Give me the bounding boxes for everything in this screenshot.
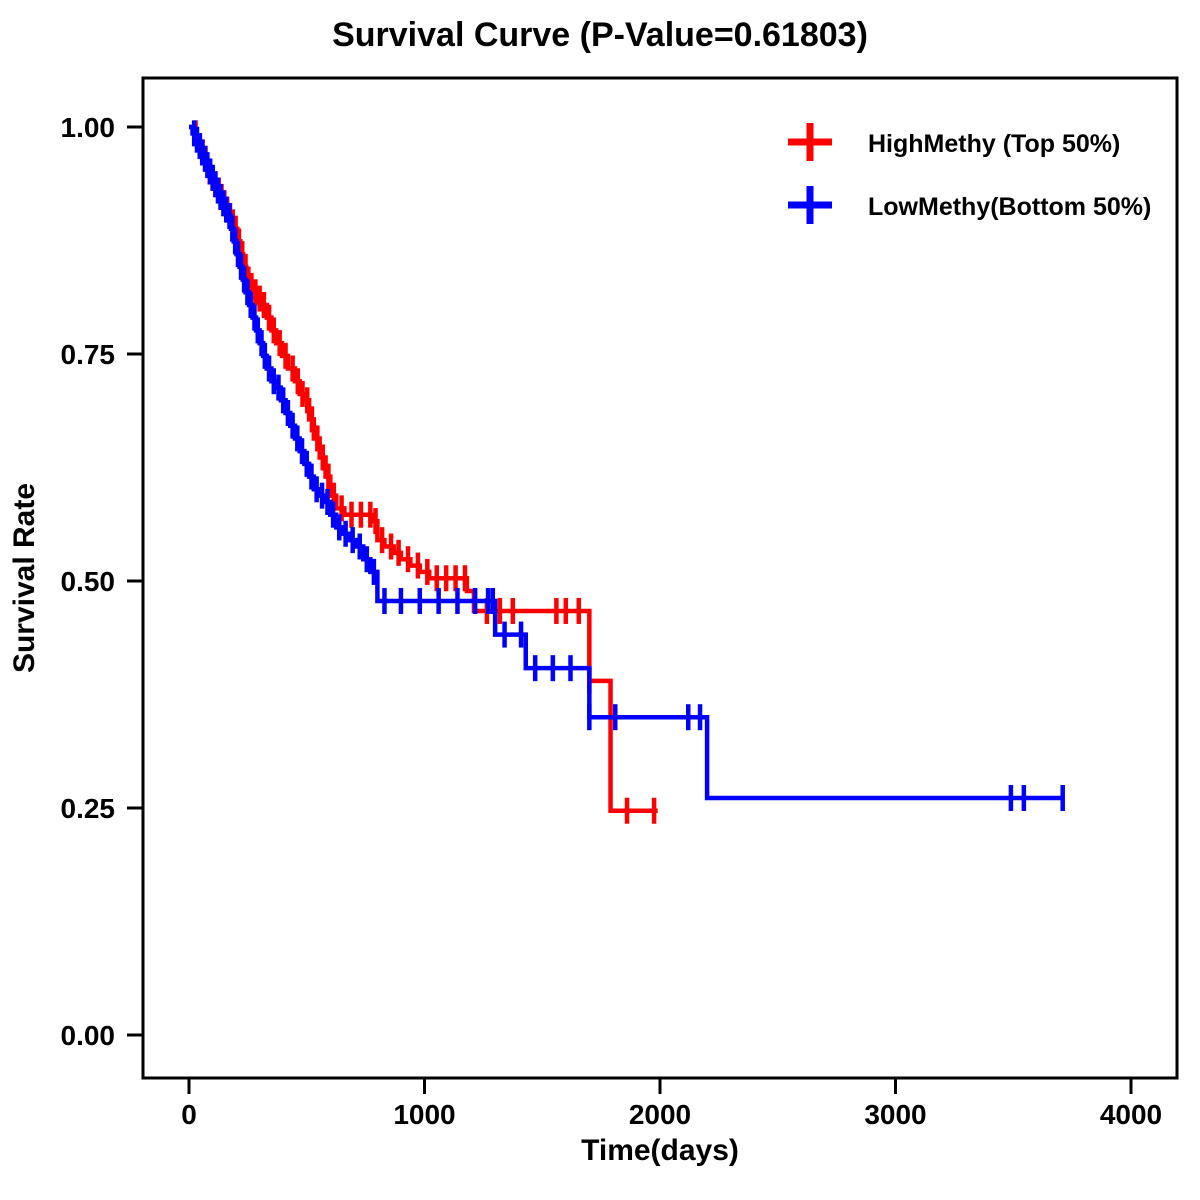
- legend-label: HighMethy (Top 50%): [868, 130, 1120, 158]
- y-tick-label-0.75: 0.75: [61, 339, 116, 370]
- y-axis-title: Survival Rate: [8, 483, 41, 673]
- legend: HighMethy (Top 50%)LowMethy(Bottom 50%): [788, 123, 1151, 224]
- y-tick-label-1.00: 1.00: [61, 112, 116, 143]
- y-tick-label-0.00: 0.00: [61, 1020, 116, 1051]
- x-tick-label-0: 0: [181, 1099, 197, 1130]
- censor-marks: [196, 120, 655, 823]
- x-tick-label-3000: 3000: [864, 1099, 926, 1130]
- x-axis-ticks: 01000200030004000: [181, 1078, 1162, 1130]
- y-tick-label-0.50: 0.50: [61, 566, 116, 597]
- plot-area: 01000200030004000 0.000.250.500.751.00 H…: [0, 0, 1200, 1200]
- x-tick-label-1000: 1000: [393, 1099, 455, 1130]
- x-axis-title: Time(days): [581, 1134, 739, 1167]
- legend-item-low-methy[interactable]: LowMethy(Bottom 50%): [788, 186, 1151, 224]
- survival-curve-figure: Survival Curve (P-Value=0.61803) 0100020…: [0, 0, 1200, 1200]
- series-low-methy: [189, 120, 1063, 811]
- x-tick-label-2000: 2000: [629, 1099, 691, 1130]
- x-tick-label-4000: 4000: [1100, 1099, 1162, 1130]
- y-axis-ticks: 0.000.250.500.751.00: [61, 112, 144, 1051]
- plot-frame: [143, 78, 1177, 1078]
- legend-label: LowMethy(Bottom 50%): [868, 193, 1151, 221]
- step-line: [189, 127, 1063, 798]
- y-tick-label-0.25: 0.25: [61, 793, 116, 824]
- legend-item-high-methy[interactable]: HighMethy (Top 50%): [788, 123, 1120, 161]
- series-container: [189, 120, 1063, 823]
